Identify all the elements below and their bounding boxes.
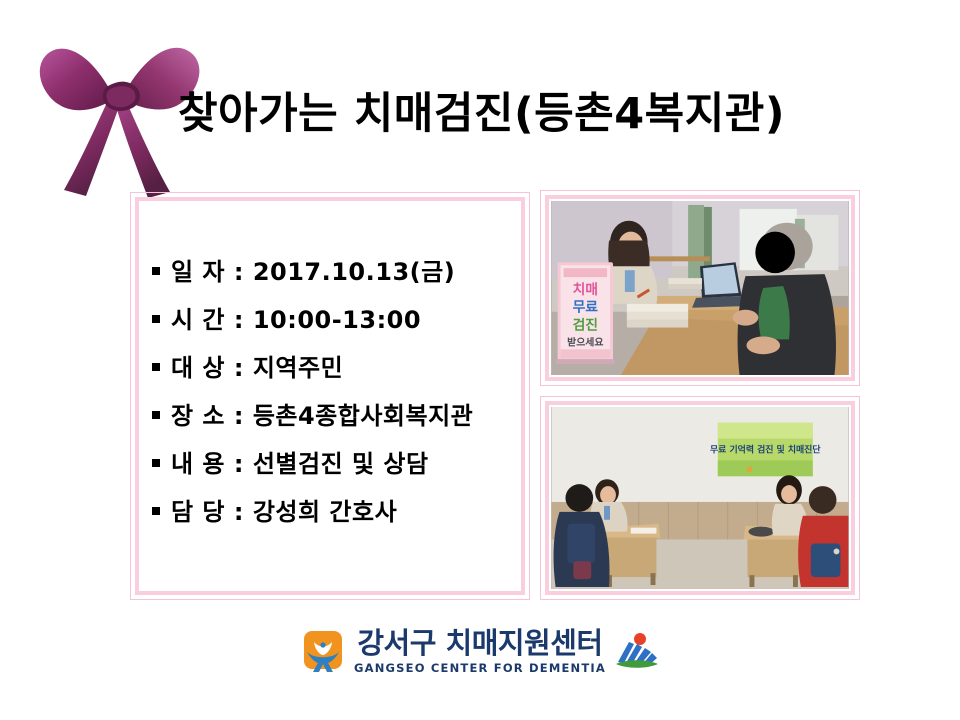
info-item-label: 담 당 : 강성희 간호사: [171, 492, 397, 527]
info-item-label: 대 상 : 지역주민: [171, 348, 343, 383]
footer-name-en: GANGSEO CENTER FOR DEMENTIA: [354, 663, 606, 675]
svg-text:받으세요: 받으세요: [567, 335, 603, 348]
info-item-label: 내 용 : 선별검진 및 상담: [171, 444, 429, 479]
list-item: 시 간 : 10:00-13:00: [152, 300, 532, 348]
info-item-label: 일 자 : 2017.10.13(금): [171, 252, 455, 287]
photo-frame-top: 치매 무료 검진 받으세요: [540, 190, 860, 386]
svg-text:치매: 치매: [573, 282, 598, 298]
gangseo-person-logo-icon: [301, 628, 345, 676]
svg-text:검진: 검진: [573, 317, 598, 334]
footer-logo-bar: 강서구 치매지원센터 GANGSEO CENTER FOR DEMENTIA: [0, 628, 960, 676]
poster-canvas: 찾아가는 치매검진(등촌4복지관) 일 자 : 2017.10.13(금) 시 …: [0, 0, 960, 720]
photo-frame-bottom: 무료 기억력 검진 및 치매진단: [540, 396, 860, 600]
list-item: 내 용 : 선별검진 및 상담: [152, 444, 532, 492]
footer-center-name: 강서구 치매지원센터 GANGSEO CENTER FOR DEMENTIA: [354, 629, 606, 675]
bullet-square-icon: [152, 459, 160, 467]
photo-screening-desk: 치매 무료 검진 받으세요: [551, 201, 849, 375]
bullet-square-icon: [152, 363, 160, 371]
svg-text:무료: 무료: [573, 300, 599, 316]
bullet-square-icon: [152, 267, 160, 275]
bullet-square-icon: [152, 315, 160, 323]
info-item-label: 장 소 : 등촌4종합사회복지관: [171, 396, 473, 431]
photo-screening-room: 무료 기억력 검진 및 치매진단: [551, 407, 849, 589]
list-item: 장 소 : 등촌4종합사회복지관: [152, 396, 532, 444]
bullet-square-icon: [152, 411, 160, 419]
info-item-label: 시 간 : 10:00-13:00: [171, 300, 421, 335]
gangseo-district-emblem-icon: [615, 630, 659, 674]
poster-title: 찾아가는 치매검진(등촌4복지관): [178, 86, 948, 142]
list-item: 담 당 : 강성희 간호사: [152, 492, 532, 540]
bullet-square-icon: [152, 507, 160, 515]
footer-name-ko: 강서구 치매지원센터: [357, 629, 602, 658]
svg-text:무료 기억력 검진 및 치매진단: 무료 기억력 검진 및 치매진단: [710, 444, 821, 456]
list-item: 일 자 : 2017.10.13(금): [152, 252, 532, 300]
list-item: 대 상 : 지역주민: [152, 348, 532, 396]
info-list: 일 자 : 2017.10.13(금) 시 간 : 10:00-13:00 대 …: [152, 252, 532, 540]
